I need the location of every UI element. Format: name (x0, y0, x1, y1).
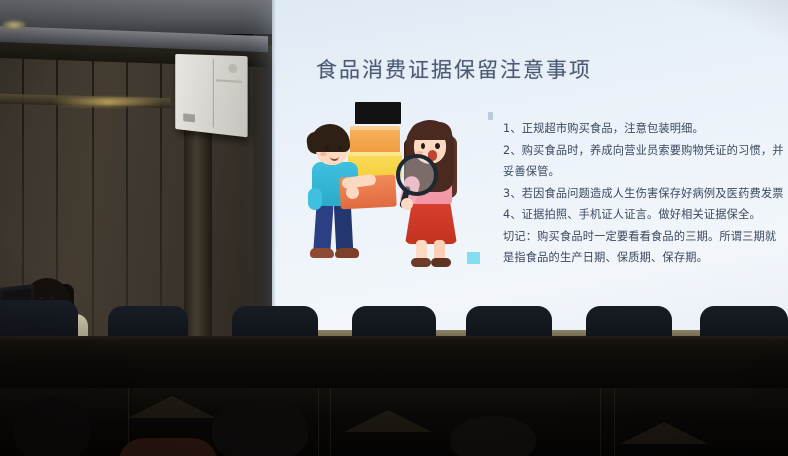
boy-arm-left (308, 188, 322, 210)
black-box-icon (355, 102, 401, 124)
wall-speaker (175, 54, 247, 137)
girl-bangs (410, 122, 452, 140)
audience-head (14, 396, 90, 456)
presenter-eye-right (50, 297, 54, 299)
wall-light-reflection (52, 98, 164, 106)
slide-title: 食品消费证据保留注意事项 (316, 54, 592, 84)
boy-eye-right (338, 146, 342, 151)
desk-front-panel (0, 340, 788, 392)
mouse-cursor-icon (488, 112, 493, 120)
audience-shoulder (118, 438, 218, 456)
projection-screen: 食品消费证据保留注意事项 (272, 0, 788, 341)
slide-illustration (302, 102, 487, 277)
presenter-eye-left (39, 297, 43, 299)
girl-eye-left (421, 143, 425, 149)
speaker-seam (213, 59, 214, 127)
screenshot-root: 食品消费证据保留注意事项 (0, 0, 788, 456)
boy-cheek (320, 152, 327, 156)
slide-line-7: 是指食品的生产日期、保质期、保存期。 (503, 247, 781, 269)
speaker-vent-icon (183, 113, 195, 122)
girl-hand (401, 198, 413, 210)
boy-shoe-left (310, 248, 334, 258)
slide-line-2: 2、购买食品时，养成向营业员索要购物凭证的习惯，并 (503, 140, 781, 162)
audience-head (212, 398, 308, 456)
cyan-accent-marker (467, 252, 480, 264)
magnifying-glass-icon (396, 154, 438, 196)
slide-line-6: 切记：购买食品时一定要看看食品的三期。所谓三期就 (503, 226, 781, 248)
speaker-logo-icon (228, 64, 237, 74)
orange-box-icon (350, 126, 400, 154)
slide-line-1: 1、正规超市购买食品，注意包装明细。 (503, 118, 781, 140)
slide-line-5: 4、证据拍照、手机证人证言。做好相关证据保全。 (503, 204, 781, 226)
slide-body-text: 1、正规超市购买食品，注意包装明细。 2、购买食品时，养成向营业员索要购物凭证的… (503, 118, 781, 269)
screen-left-bevel (272, 0, 276, 341)
girl-eye-right (435, 143, 440, 149)
slide-line-3: 妥善保管。 (503, 161, 781, 183)
audience-row (0, 388, 788, 456)
girl-skirt (405, 200, 457, 244)
speaker-label (216, 79, 242, 83)
audience-head (450, 416, 536, 456)
slide-line-4: 3、若因食品问题造成人生伤害保存好病例及医药费发票 (503, 183, 781, 205)
boy-eye-left (325, 146, 329, 151)
ceiling-light-icon (2, 20, 26, 30)
girl-shoe-left (411, 258, 431, 267)
boy-hair (310, 124, 350, 152)
boy-hand (346, 186, 359, 199)
girl-shoe-right (431, 258, 451, 267)
boy-shoe-right (335, 248, 359, 258)
